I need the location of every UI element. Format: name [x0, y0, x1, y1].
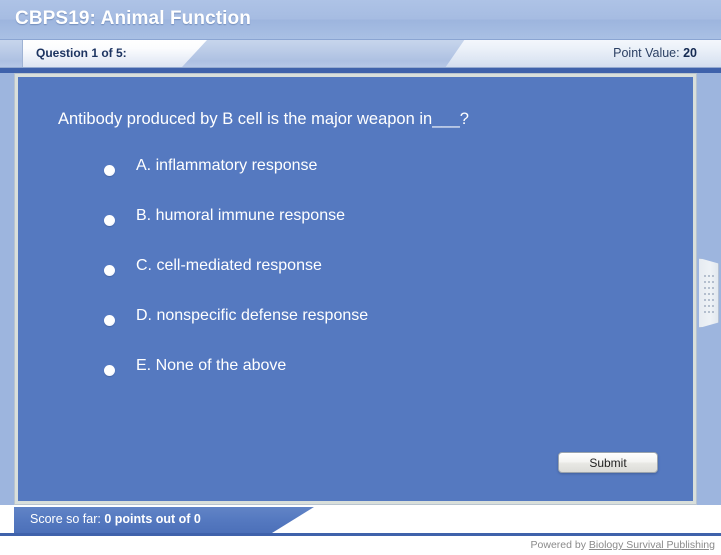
bullet-icon [104, 265, 115, 276]
quiz-application: CBPS19: Animal Function Question 1 of 5:… [0, 0, 721, 555]
answer-option-c[interactable]: C. cell-mediated response [92, 257, 652, 307]
point-value: Point Value: 20 [613, 46, 697, 60]
answer-option-b[interactable]: B. humoral immune response [92, 207, 652, 257]
score-prefix: Score so far: [30, 512, 101, 526]
answer-option-d[interactable]: D. nonspecific defense response [92, 307, 652, 357]
answer-option-label: C. cell-mediated response [136, 257, 322, 275]
answer-option-label: E. None of the above [136, 357, 286, 375]
powered-by-label: Powered by [531, 539, 586, 551]
bullet-icon [104, 215, 115, 226]
answer-option-label: B. humoral immune response [136, 207, 345, 225]
answer-option-a[interactable]: A. inflammatory response [92, 157, 652, 207]
answer-options-list: A. inflammatory response B. humoral immu… [92, 157, 652, 407]
page-title: CBPS19: Animal Function [15, 8, 251, 30]
answer-option-label: D. nonspecific defense response [136, 307, 368, 325]
answer-option-label: A. inflammatory response [136, 157, 317, 175]
question-info-bar: Question 1 of 5: Point Value: 20 [0, 40, 721, 68]
footer: Powered by Biology Survival Publishing [0, 536, 721, 555]
bullet-icon [104, 165, 115, 176]
score-value: 0 points out of 0 [104, 512, 201, 526]
question-text: Antibody produced by B cell is the major… [58, 109, 658, 129]
question-panel: Antibody produced by B cell is the major… [18, 77, 693, 501]
point-value-number: 20 [683, 46, 697, 60]
bullet-icon [104, 365, 115, 376]
score-text: Score so far: 0 points out of 0 [30, 512, 201, 526]
score-bar-right [269, 507, 721, 533]
title-bar: CBPS19: Animal Function [0, 0, 721, 40]
answer-option-e[interactable]: E. None of the above [92, 357, 652, 407]
tab-divider [22, 40, 23, 68]
submit-button[interactable]: Submit [558, 452, 658, 473]
bullet-icon [104, 315, 115, 326]
footer-credit: Powered by Biology Survival Publishing [531, 539, 715, 551]
score-bar: Score so far: 0 points out of 0 [14, 507, 721, 533]
panel-resize-handle[interactable] [699, 258, 719, 328]
point-value-label: Point Value: [613, 46, 679, 60]
publisher-link[interactable]: Biology Survival Publishing [589, 539, 715, 551]
grip-dots-icon [703, 273, 715, 315]
question-counter: Question 1 of 5: [36, 46, 127, 60]
